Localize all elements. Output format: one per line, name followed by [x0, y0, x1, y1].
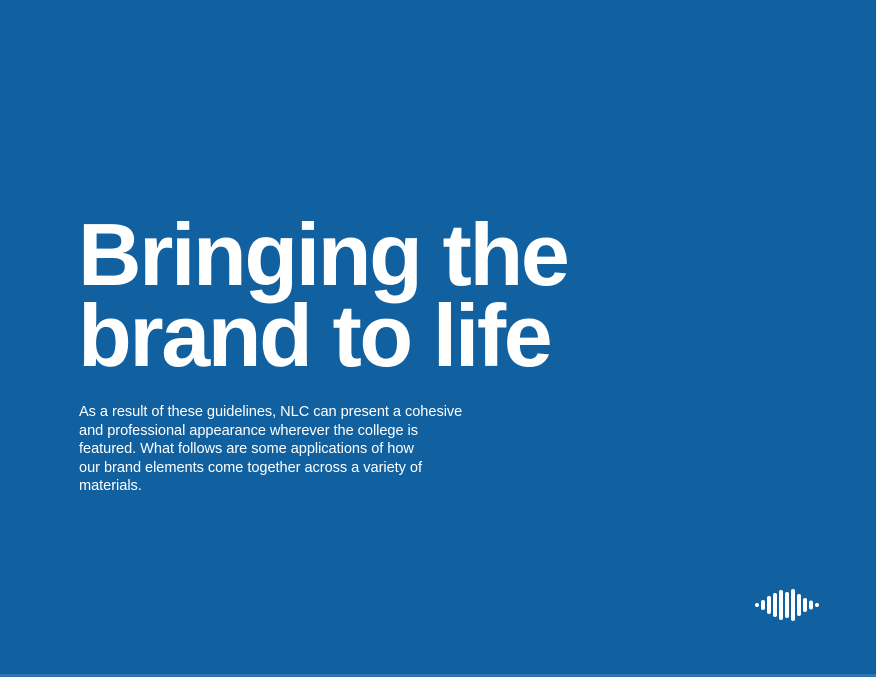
body-line-2: and professional appearance wherever the…: [79, 422, 511, 441]
waveform-bar-3: [767, 596, 771, 614]
body-line-3: featured. What follows are some applicat…: [79, 440, 511, 459]
waveform-logo-icon: [755, 588, 821, 622]
body-line-1: As a result of these guidelines, NLC can…: [79, 403, 511, 422]
headline-line-1: Bringing the: [78, 215, 718, 296]
waveform-bar-10: [809, 601, 813, 610]
body-line-5: materials.: [79, 477, 511, 496]
waveform-bar-1: [755, 603, 759, 607]
waveform-bar-9: [803, 598, 807, 612]
waveform-bar-8: [797, 594, 801, 616]
headline-line-2: brand to life: [78, 296, 718, 377]
waveform-bar-2: [761, 600, 765, 610]
body-paragraph: As a result of these guidelines, NLC can…: [79, 403, 511, 496]
waveform-bar-6: [785, 592, 789, 618]
waveform-bar-11: [815, 603, 819, 607]
page-title: Bringing the brand to life: [78, 215, 718, 377]
slide-canvas: Bringing the brand to life As a result o…: [0, 0, 876, 677]
waveform-bar-4: [773, 593, 777, 617]
waveform-bar-7: [791, 589, 795, 621]
waveform-bar-5: [779, 590, 783, 620]
body-line-4: our brand elements come together across …: [79, 459, 511, 478]
